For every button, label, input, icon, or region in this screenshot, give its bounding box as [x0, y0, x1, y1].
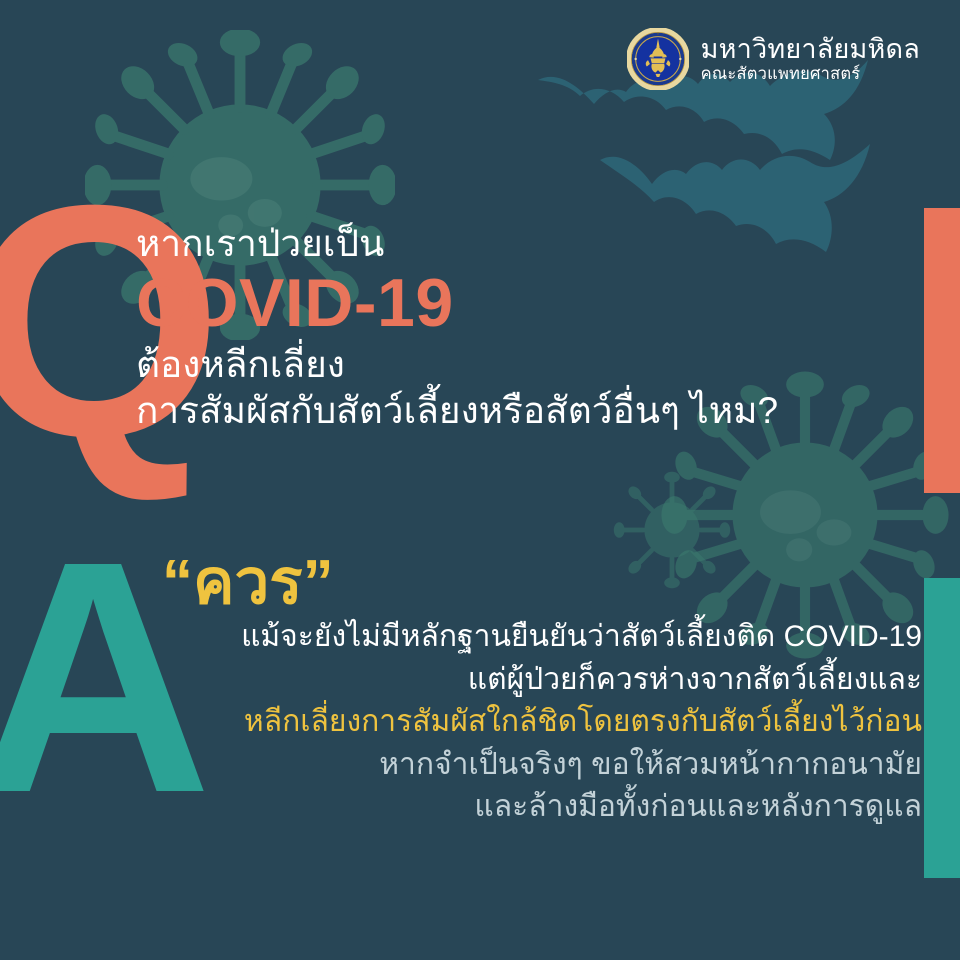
answer-keyword: “ควร”	[162, 552, 922, 614]
question-accent-bar	[924, 208, 960, 493]
faculty-name: คณะสัตวแพทยศาสตร์	[701, 66, 920, 83]
answer-accent-bar	[924, 578, 960, 878]
answer-line: แม้จะยังไม่มีหลักฐานยืนยันว่าสัตว์เลี้ยง…	[150, 616, 922, 659]
answer-block: “ควร” แม้จะยังไม่มีหลักฐานยืนยันว่าสัตว์…	[150, 552, 922, 829]
question-line-1: หากเราป่วยเป็น	[136, 222, 926, 266]
infographic-poster: Q A	[0, 0, 960, 960]
question-block: หากเราป่วยเป็น COVID-19 ต้องหลีกเลี่ยง ก…	[136, 222, 926, 432]
question-line-3: ต้องหลีกเลี่ยง	[136, 343, 926, 387]
question-line-4: การสัมผัสกับสัตว์เลี้ยงหรือสัตว์อื่นๆ ไห…	[136, 389, 926, 433]
answer-line-muted: และล้างมือทั้งก่อนและหลังการดูแล	[150, 786, 922, 829]
answer-line-muted: หากจำเป็นจริงๆ ขอให้สวมหน้ากากอนามัย	[150, 744, 922, 787]
question-keyword-covid19: COVID-19	[136, 268, 926, 339]
answer-line-highlight: หลีกเลี่ยงการสัมผัสใกล้ชิดโดยตรงกับสัตว์…	[150, 701, 922, 744]
answer-line: แต่ผู้ป่วยก็ควรห่างจากสัตว์เลี้ยงและ	[150, 659, 922, 702]
university-name: มหาวิทยาลัยมหิดล	[701, 35, 920, 63]
brand-header: • มหาวิทยาลัยมหิดล คณะสัตวแพทยศาสตร์	[627, 28, 920, 90]
mahidol-university-seal-icon: •	[627, 28, 689, 90]
